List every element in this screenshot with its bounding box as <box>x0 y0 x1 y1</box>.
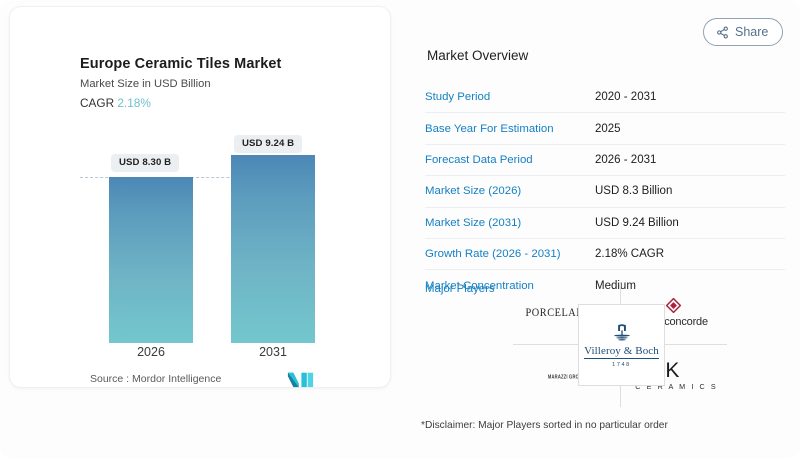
row-value: 2020 - 2031 <box>595 91 656 103</box>
row-value: USD 9.24 Billion <box>595 217 679 229</box>
row-value: 2025 <box>595 123 621 135</box>
row-label: Study Period <box>425 91 595 103</box>
chart-card: Europe Ceramic Tiles Market Market Size … <box>9 6 391 388</box>
x-axis-label-2026: 2026 <box>109 345 193 359</box>
share-button-label: Share <box>735 25 768 39</box>
row-label: Growth Rate (2026 - 2031) <box>425 248 595 260</box>
bar-2031[interactable] <box>231 155 315 343</box>
row-value: 2.18% CAGR <box>595 248 664 260</box>
villeroy-boch-fountain-icon <box>609 323 635 343</box>
villeroy-boch-year: 1748 <box>612 362 631 368</box>
market-overview-table: Study Period 2020 - 2031 Base Year For E… <box>425 82 785 301</box>
table-row: Base Year For Estimation 2025 <box>425 113 785 144</box>
table-row: Growth Rate (2026 - 2031) 2.18% CAGR <box>425 239 785 270</box>
bar-chart-plot: USD 8.30 B 2026 USD 9.24 B 2031 <box>10 7 390 387</box>
table-row: Market Size (2026) USD 8.3 Billion <box>425 176 785 207</box>
row-label: Market Size (2031) <box>425 217 595 229</box>
row-value: 2026 - 2031 <box>595 154 656 166</box>
market-overview-title: Market Overview <box>427 48 528 63</box>
share-nodes-icon <box>716 26 729 39</box>
major-players-label: Major Players <box>425 283 495 295</box>
villeroy-boch-logo-text: Villeroy & Boch <box>584 345 659 359</box>
table-row: Forecast Data Period 2026 - 2031 <box>425 145 785 176</box>
screenshot-root: Share Europe Ceramic Tiles Market Market… <box>0 0 800 459</box>
mordor-intelligence-logo <box>287 370 314 388</box>
bar-2026[interactable] <box>109 177 193 343</box>
x-axis-label-2031: 2031 <box>231 345 315 359</box>
bar-label-2026: USD 8.30 B <box>111 154 179 172</box>
row-label: Forecast Data Period <box>425 154 595 166</box>
atlas-concorde-diamond-icon <box>666 298 681 313</box>
disclaimer-text: *Disclaimer: Major Players sorted in no … <box>421 420 668 431</box>
row-value: USD 8.3 Billion <box>595 185 672 197</box>
player-cell-villeroy-boch: Villeroy & Boch 1748 <box>578 304 665 386</box>
share-button[interactable]: Share <box>703 18 783 46</box>
bar-label-2031: USD 9.24 B <box>234 135 302 153</box>
source-text: Source : Mordor Intelligence <box>90 373 221 385</box>
row-label: Base Year For Estimation <box>425 123 595 135</box>
table-row: Study Period 2020 - 2031 <box>425 82 785 113</box>
row-label: Market Size (2026) <box>425 185 595 197</box>
table-row: Market Size (2031) USD 9.24 Billion <box>425 208 785 239</box>
major-players-grid: PORCELANOSA atlas concorde MARAZZI GROUP… <box>513 282 727 407</box>
